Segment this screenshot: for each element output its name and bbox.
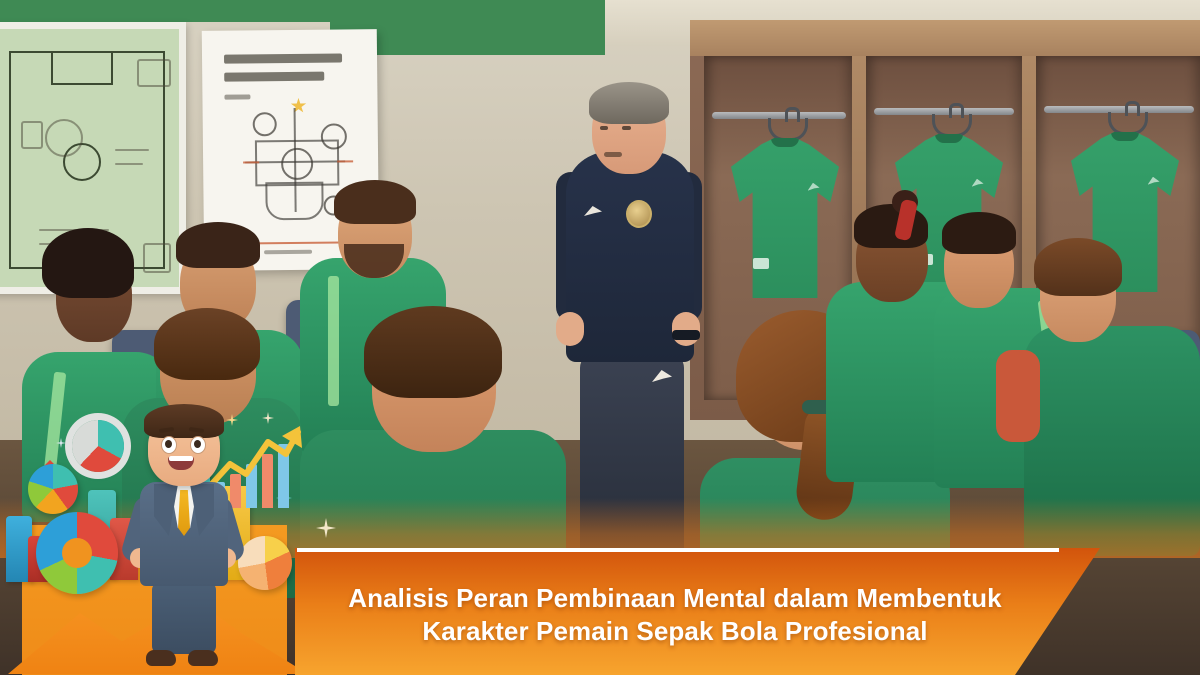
mascot-pupil-left	[165, 440, 172, 448]
mascot-businessman	[128, 398, 238, 673]
jersey-brand-icon	[808, 183, 820, 191]
coach-hand-left	[556, 312, 584, 346]
wall-green-stripe-left	[0, 0, 340, 22]
player-hair	[176, 222, 260, 268]
jersey-collar	[935, 134, 963, 143]
gear-pie-icon	[72, 420, 124, 472]
board-scribble-1	[115, 149, 149, 151]
mascot-pupil-right	[194, 440, 201, 448]
coach-hair	[589, 82, 669, 124]
pie-chart-small	[28, 464, 78, 514]
player-hair	[1034, 238, 1122, 296]
board-note-topright	[137, 59, 171, 87]
board-scribble-2	[115, 163, 143, 165]
page-title-line-1: Analisis Peran Pembinaan Mental dalam Me…	[348, 582, 1001, 615]
player-hair	[854, 204, 928, 248]
poster-circle-center	[281, 148, 313, 180]
coach-club-crest-icon	[626, 200, 652, 228]
poster-subline	[224, 94, 250, 99]
coach-eye-right	[622, 126, 631, 130]
mascot-legs	[152, 582, 216, 654]
mascot-necktie	[178, 490, 190, 536]
player-hair	[364, 306, 502, 398]
jersey-collar	[1111, 132, 1139, 141]
jersey-sponsor-badge	[753, 258, 769, 269]
player-hair	[154, 308, 260, 380]
page-title-line-2: Karakter Pemain Sepak Bola Profesional	[422, 615, 927, 648]
coach-mouth	[604, 152, 622, 157]
board-note-left	[21, 121, 43, 149]
poster-red-arrow-right	[337, 160, 353, 162]
player-hair	[942, 212, 1016, 254]
donut-chart-hole	[62, 538, 92, 568]
poster-shape-lower	[265, 182, 323, 221]
title-banner-top-rule	[297, 548, 1059, 552]
player-hair	[42, 228, 134, 298]
player-orange-sleeve	[996, 350, 1040, 442]
coach-eye-left	[600, 126, 608, 130]
poster-red-arrow-left	[243, 161, 259, 163]
board-marker-center	[45, 119, 83, 157]
mascot-shoe-left	[146, 650, 176, 666]
coach-wristwatch	[672, 330, 700, 340]
locker-top-trim	[690, 20, 1200, 56]
poster-headline-2	[224, 72, 324, 82]
jersey-brand-icon	[1148, 177, 1160, 185]
player-hair	[334, 180, 416, 224]
pie-chart-right	[238, 536, 292, 590]
coach-hand-right	[672, 312, 700, 346]
player-kit-stripe	[328, 276, 339, 406]
screenshot-root: Analisis Peran Pembinaan Mental dalam Me…	[0, 0, 1200, 675]
penalty-box	[51, 53, 113, 85]
poster-footer-text	[264, 250, 312, 255]
mascot-teeth	[169, 456, 193, 461]
jersey-brand-icon	[972, 179, 984, 187]
mascot-shoe-right	[188, 650, 218, 666]
poster-circle-right	[321, 123, 347, 149]
jersey-collar	[771, 138, 799, 147]
poster-headline-1	[224, 53, 342, 63]
mascot-hair	[144, 404, 224, 438]
page-title: Analisis Peran Pembinaan Mental dalam Me…	[295, 560, 1055, 670]
board-note-bottomright	[143, 243, 171, 273]
poster-circle-left	[253, 112, 277, 136]
